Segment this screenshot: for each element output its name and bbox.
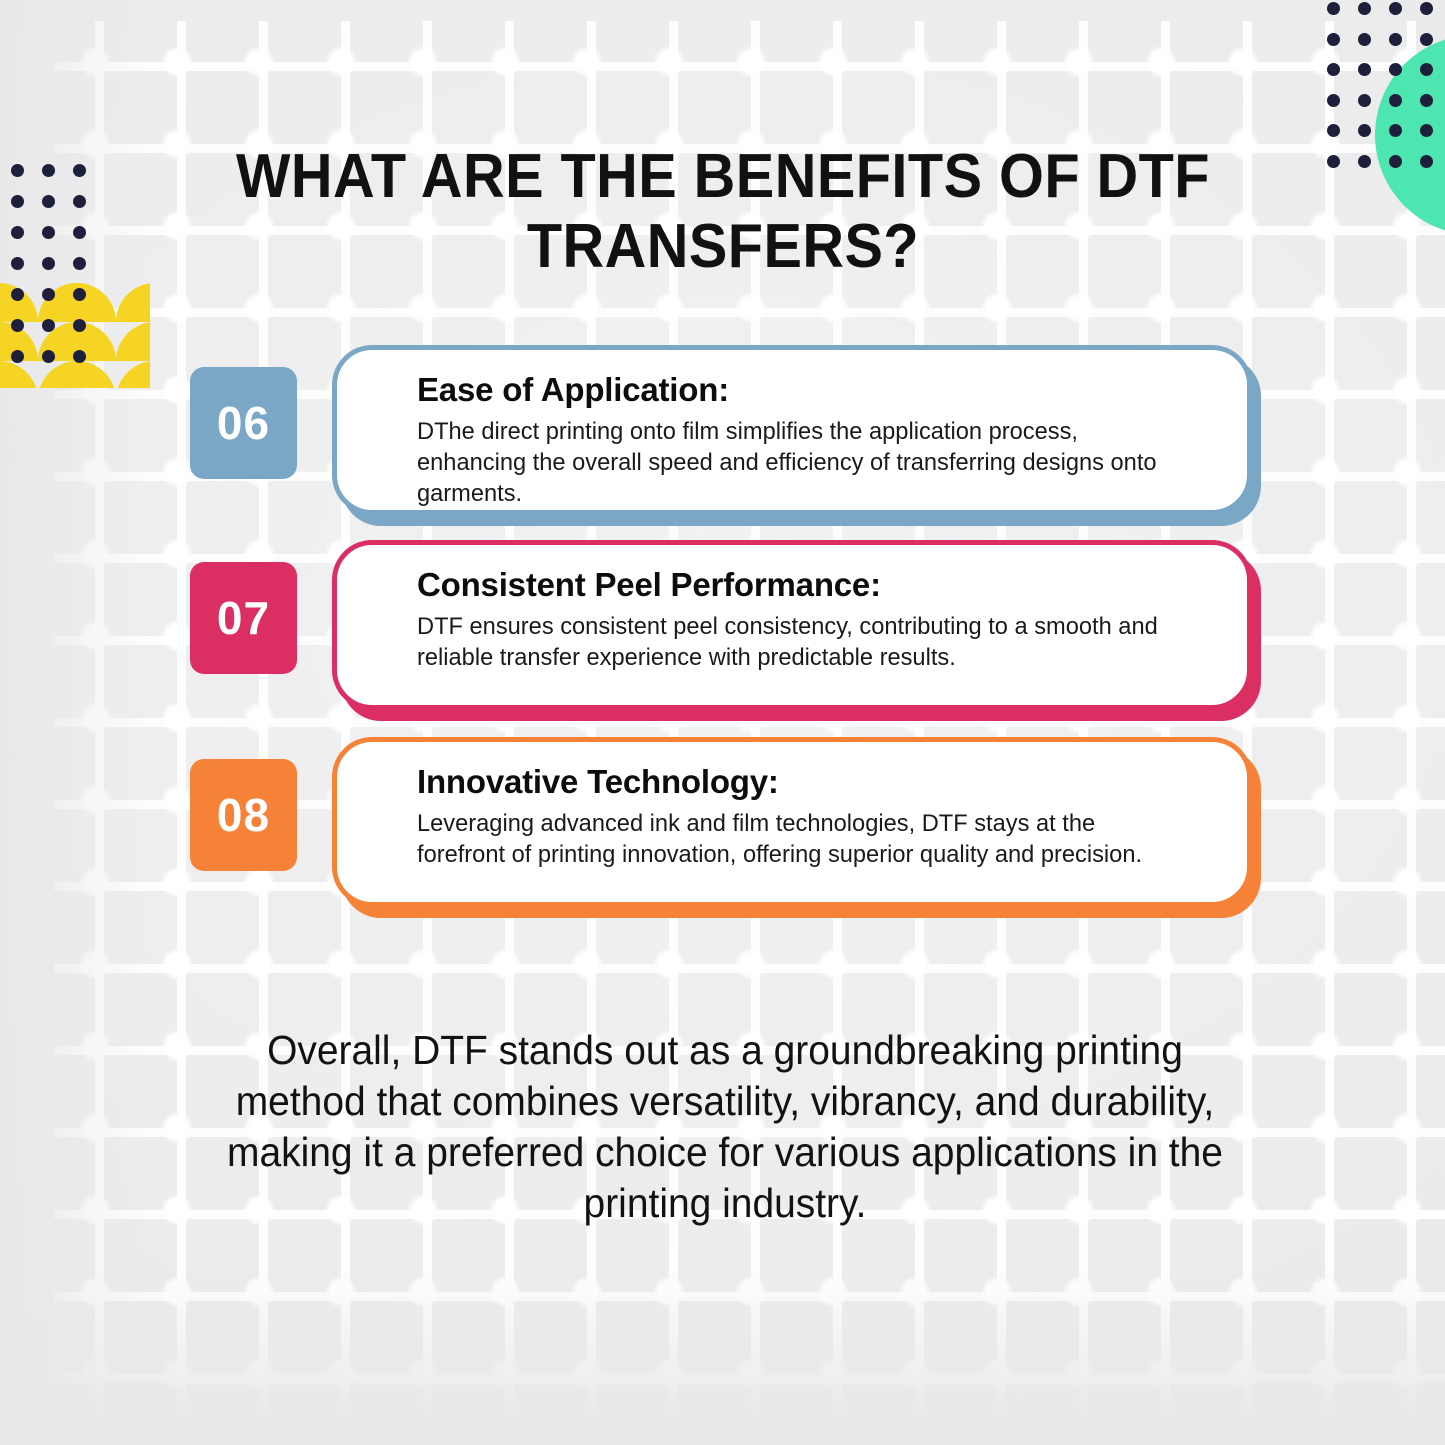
dot bbox=[1389, 2, 1402, 15]
dot bbox=[11, 164, 24, 177]
card-body-06: DThe direct printing onto film simplifie… bbox=[417, 416, 1185, 509]
card-heading-08: Innovative Technology: bbox=[417, 762, 1213, 802]
dot bbox=[73, 195, 86, 208]
dot bbox=[73, 319, 86, 332]
card-number-badge-06: 06 bbox=[190, 367, 297, 479]
card-heading-07: Consistent Peel Performance: bbox=[417, 565, 1213, 605]
dot bbox=[11, 195, 24, 208]
dot bbox=[1389, 63, 1402, 76]
card-pill-06: Ease of Application: DThe direct printin… bbox=[332, 345, 1252, 515]
closing-paragraph: Overall, DTF stands out as a groundbreak… bbox=[203, 1025, 1248, 1229]
card-number-badge-08: 08 bbox=[190, 759, 297, 871]
card-heading-06: Ease of Application: bbox=[417, 370, 1213, 410]
card-pill-08: Innovative Technology: Leveraging advanc… bbox=[332, 737, 1252, 907]
dot bbox=[1420, 155, 1433, 168]
dot-grid-left-decoration bbox=[11, 164, 106, 369]
dot bbox=[1327, 124, 1340, 137]
infographic-poster: WHAT ARE THE BENEFITS OF DTF TRANSFERS? … bbox=[0, 0, 1445, 1445]
dot bbox=[1420, 63, 1433, 76]
dot bbox=[1358, 63, 1371, 76]
dot bbox=[11, 319, 24, 332]
dot bbox=[1327, 155, 1340, 168]
dot bbox=[42, 319, 55, 332]
dot bbox=[1327, 94, 1340, 107]
dot bbox=[42, 164, 55, 177]
dot bbox=[1358, 94, 1371, 107]
dot bbox=[73, 257, 86, 270]
card-body-08: Leveraging advanced ink and film technol… bbox=[417, 808, 1185, 870]
dot bbox=[1420, 94, 1433, 107]
card-number-badge-07: 07 bbox=[190, 562, 297, 674]
dot bbox=[42, 288, 55, 301]
benefit-card-07: 07 Consistent Peel Performance: DTF ensu… bbox=[0, 540, 1445, 722]
dot bbox=[1327, 2, 1340, 15]
dot bbox=[1327, 63, 1340, 76]
page-title: WHAT ARE THE BENEFITS OF DTF TRANSFERS? bbox=[207, 142, 1239, 282]
dot bbox=[11, 257, 24, 270]
dot bbox=[1389, 155, 1402, 168]
dot bbox=[73, 288, 86, 301]
dot bbox=[1358, 124, 1371, 137]
dot bbox=[1420, 2, 1433, 15]
card-body-07: DTF ensures consistent peel consistency,… bbox=[417, 611, 1185, 673]
card-surface-07: Consistent Peel Performance: DTF ensures… bbox=[332, 540, 1252, 710]
dot bbox=[1389, 124, 1402, 137]
background-fade-bottom bbox=[0, 1265, 1445, 1445]
dot bbox=[1358, 155, 1371, 168]
dot bbox=[42, 195, 55, 208]
dot bbox=[1420, 124, 1433, 137]
dot bbox=[1327, 33, 1340, 46]
benefit-card-08: 08 Innovative Technology: Leveraging adv… bbox=[0, 737, 1445, 919]
dot bbox=[1389, 94, 1402, 107]
dot bbox=[11, 226, 24, 239]
card-surface-06: Ease of Application: DThe direct printin… bbox=[332, 345, 1252, 515]
dot bbox=[73, 164, 86, 177]
dot-grid-top-right-decoration bbox=[1327, 2, 1445, 187]
dot bbox=[1389, 33, 1402, 46]
dot bbox=[73, 226, 86, 239]
card-surface-08: Innovative Technology: Leveraging advanc… bbox=[332, 737, 1252, 907]
dot bbox=[1358, 33, 1371, 46]
benefit-card-06: 06 Ease of Application: DThe direct prin… bbox=[0, 345, 1445, 527]
dot bbox=[11, 288, 24, 301]
dot bbox=[42, 257, 55, 270]
dot bbox=[1358, 2, 1371, 15]
dot bbox=[1420, 33, 1433, 46]
card-pill-07: Consistent Peel Performance: DTF ensures… bbox=[332, 540, 1252, 710]
dot bbox=[42, 226, 55, 239]
